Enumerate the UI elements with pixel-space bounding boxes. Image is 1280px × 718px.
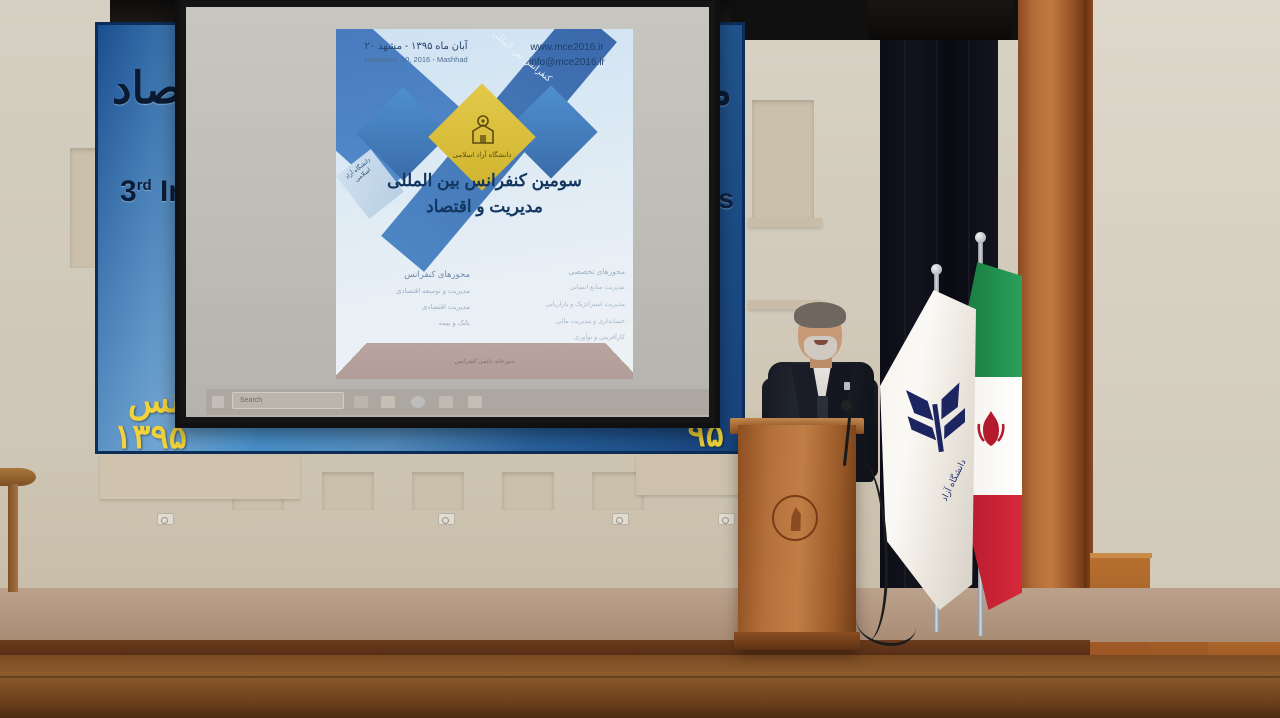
stage-surface <box>0 588 1280 642</box>
slide-topics-heading: محورهای کنفرانس <box>350 269 470 280</box>
azad-university-flag-logo-icon <box>897 375 977 458</box>
slide-website: www.mce2016.ir <box>511 41 623 56</box>
wall-shelf <box>748 218 822 227</box>
side-table-leg <box>8 484 18 592</box>
wall-niche <box>752 100 814 220</box>
slide-date-block: ۲۰ آبان ماه ۱۳۹۵ - مشهد November 10, 201… <box>352 41 480 64</box>
flagpole-finial-icon <box>975 232 986 243</box>
slide-topics-list: محورهای کنفرانس مدیریت و توسعه اقتصادی م… <box>350 269 470 335</box>
slide-date-english: November 10, 2016 - Mashhad <box>352 55 480 64</box>
presentation-slide: کنفرانس بین المللی دانشگاه آزاد اسلامی ۲… <box>336 29 633 379</box>
speaker-pin-icon <box>844 382 850 390</box>
podium-crest-icon <box>772 495 818 541</box>
banner-number: 3 <box>120 175 137 208</box>
slide-title: سومین کنفرانس بین المللی مدیریت و اقتصاد <box>336 171 633 217</box>
stage-step-tread <box>1090 553 1152 558</box>
wall-niche <box>412 472 464 510</box>
slide-secondary-list: محورهای تخصصی مدیریت منابع انسانی مدیریت… <box>507 267 625 350</box>
windows-taskbar[interactable]: Search <box>206 389 709 415</box>
slide-footer: دبیرخانه دائمی کنفرانس <box>336 358 633 365</box>
iran-emblem-icon <box>974 408 1008 448</box>
wall-ledge <box>636 455 746 495</box>
slide-secondary-item: مدیریت استراتژیک و بازاریابی <box>507 300 625 310</box>
browser-icon[interactable] <box>411 396 425 408</box>
mail-icon[interactable] <box>468 396 482 408</box>
slide-emblem-caption: دانشگاه آزاد اسلامی <box>446 151 518 159</box>
power-outlet <box>612 513 629 525</box>
slide-contact-block: www.mce2016.ir info@mce2016.ir <box>511 41 623 70</box>
start-icon[interactable] <box>212 396 224 408</box>
slide-topic-item: مدیریت و توسعه اقتصادی <box>350 287 470 295</box>
curtain-valance <box>868 0 1013 40</box>
slide-email: info@mce2016.ir <box>511 56 623 71</box>
flagpole-finial-icon <box>931 264 942 275</box>
power-outlet <box>718 513 735 525</box>
wall-niche <box>322 472 374 510</box>
slide-emblem-icon <box>468 113 498 147</box>
slide-secondary-heading: محورهای تخصصی <box>507 267 625 276</box>
slide-secondary-item: کارآفرینی و نوآوری <box>507 333 625 343</box>
banner-ordinal-suffix: rd <box>137 177 152 194</box>
slide-secondary-item: مدیریت منابع انسانی <box>507 283 625 293</box>
slide-topic-item: بانک و بیمه <box>350 319 470 327</box>
lower-floor <box>0 655 1280 718</box>
projection-screen: کنفرانس بین المللی دانشگاه آزاد اسلامی ۲… <box>186 7 709 417</box>
slide-secondary-item: حسابداری و مدیریت مالی <box>507 317 625 327</box>
speaker-hair <box>794 302 846 328</box>
power-outlet <box>438 513 455 525</box>
projection-screen-frame: کنفرانس بین المللی دانشگاه آزاد اسلامی ۲… <box>175 0 720 428</box>
side-table <box>0 468 36 486</box>
wall-ledge <box>100 455 300 499</box>
wall-niche <box>502 472 554 510</box>
folder-icon[interactable] <box>381 396 395 408</box>
wooden-column <box>1018 0 1084 660</box>
task-view-icon[interactable] <box>354 396 368 408</box>
power-outlet <box>157 513 174 525</box>
floor-seam <box>0 676 1280 678</box>
store-icon[interactable] <box>439 396 453 408</box>
search-input[interactable]: Search <box>232 392 344 409</box>
conference-hall-photo: اقتصاد مدیریت 3rd Int cs دانشگاه آزاد نس… <box>0 0 1280 718</box>
banner-yellow-line-1: نس <box>128 381 181 421</box>
slide-topic-item: مدیریت اقتصادی <box>350 303 470 311</box>
slide-title-line-1: سومین کنفرانس بین المللی <box>336 171 633 191</box>
slide-date-persian: ۲۰ آبان ماه ۱۳۹۵ - مشهد <box>352 41 480 52</box>
slide-title-line-2: مدیریت و اقتصاد <box>336 197 633 217</box>
